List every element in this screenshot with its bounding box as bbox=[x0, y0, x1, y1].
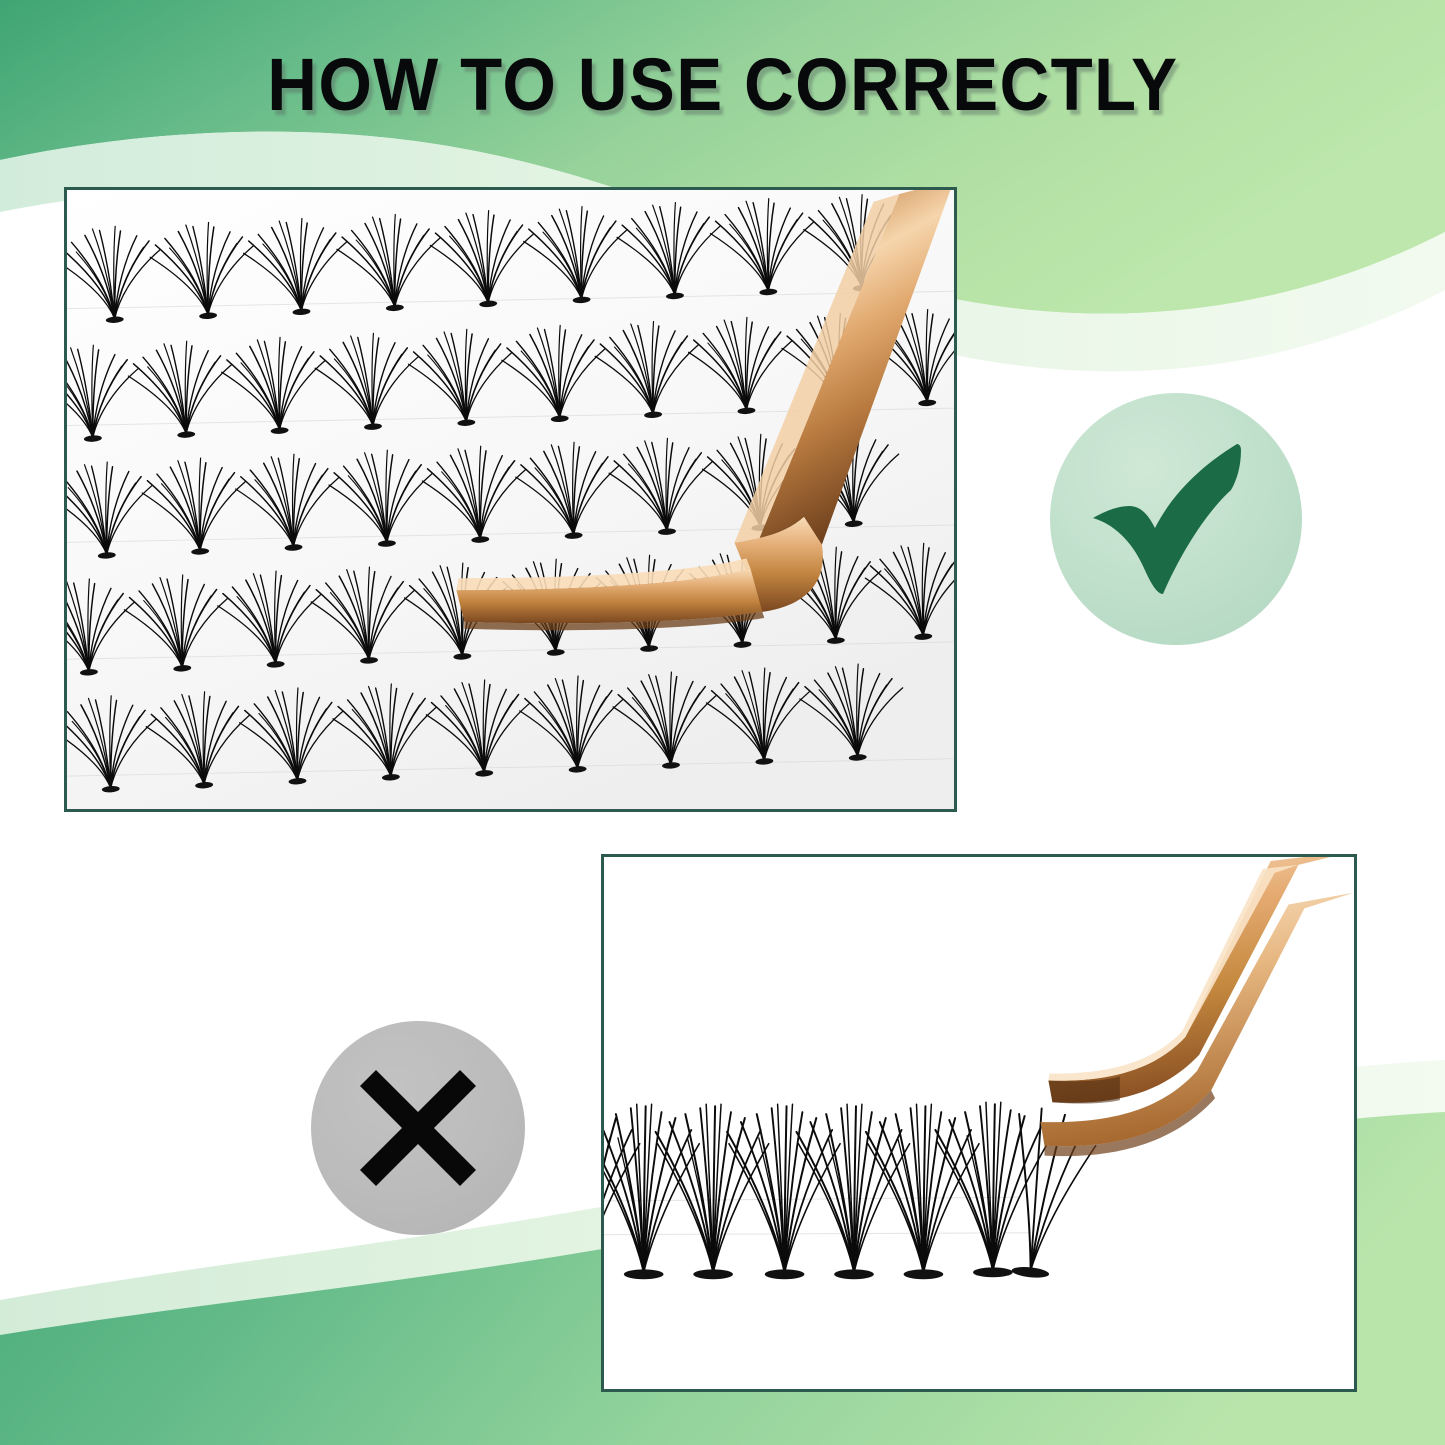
correct-usage-photo-panel bbox=[64, 187, 957, 812]
correct-usage-photo-image bbox=[67, 190, 954, 809]
incorrect-usage-photo-panel bbox=[601, 854, 1357, 1392]
incorrect-usage-photo-image bbox=[604, 857, 1354, 1389]
check-badge bbox=[1050, 393, 1302, 645]
check-icon bbox=[1087, 444, 1265, 594]
lash-side-illustration bbox=[604, 857, 1354, 1389]
infographic-root: HOW TO USE CORRECTLY bbox=[0, 0, 1445, 1445]
x-badge bbox=[311, 1021, 525, 1235]
title-block: HOW TO USE CORRECTLY bbox=[0, 48, 1445, 122]
lash-tray-illustration bbox=[67, 190, 954, 809]
x-icon bbox=[354, 1064, 482, 1192]
page-title: HOW TO USE CORRECTLY bbox=[267, 48, 1178, 122]
